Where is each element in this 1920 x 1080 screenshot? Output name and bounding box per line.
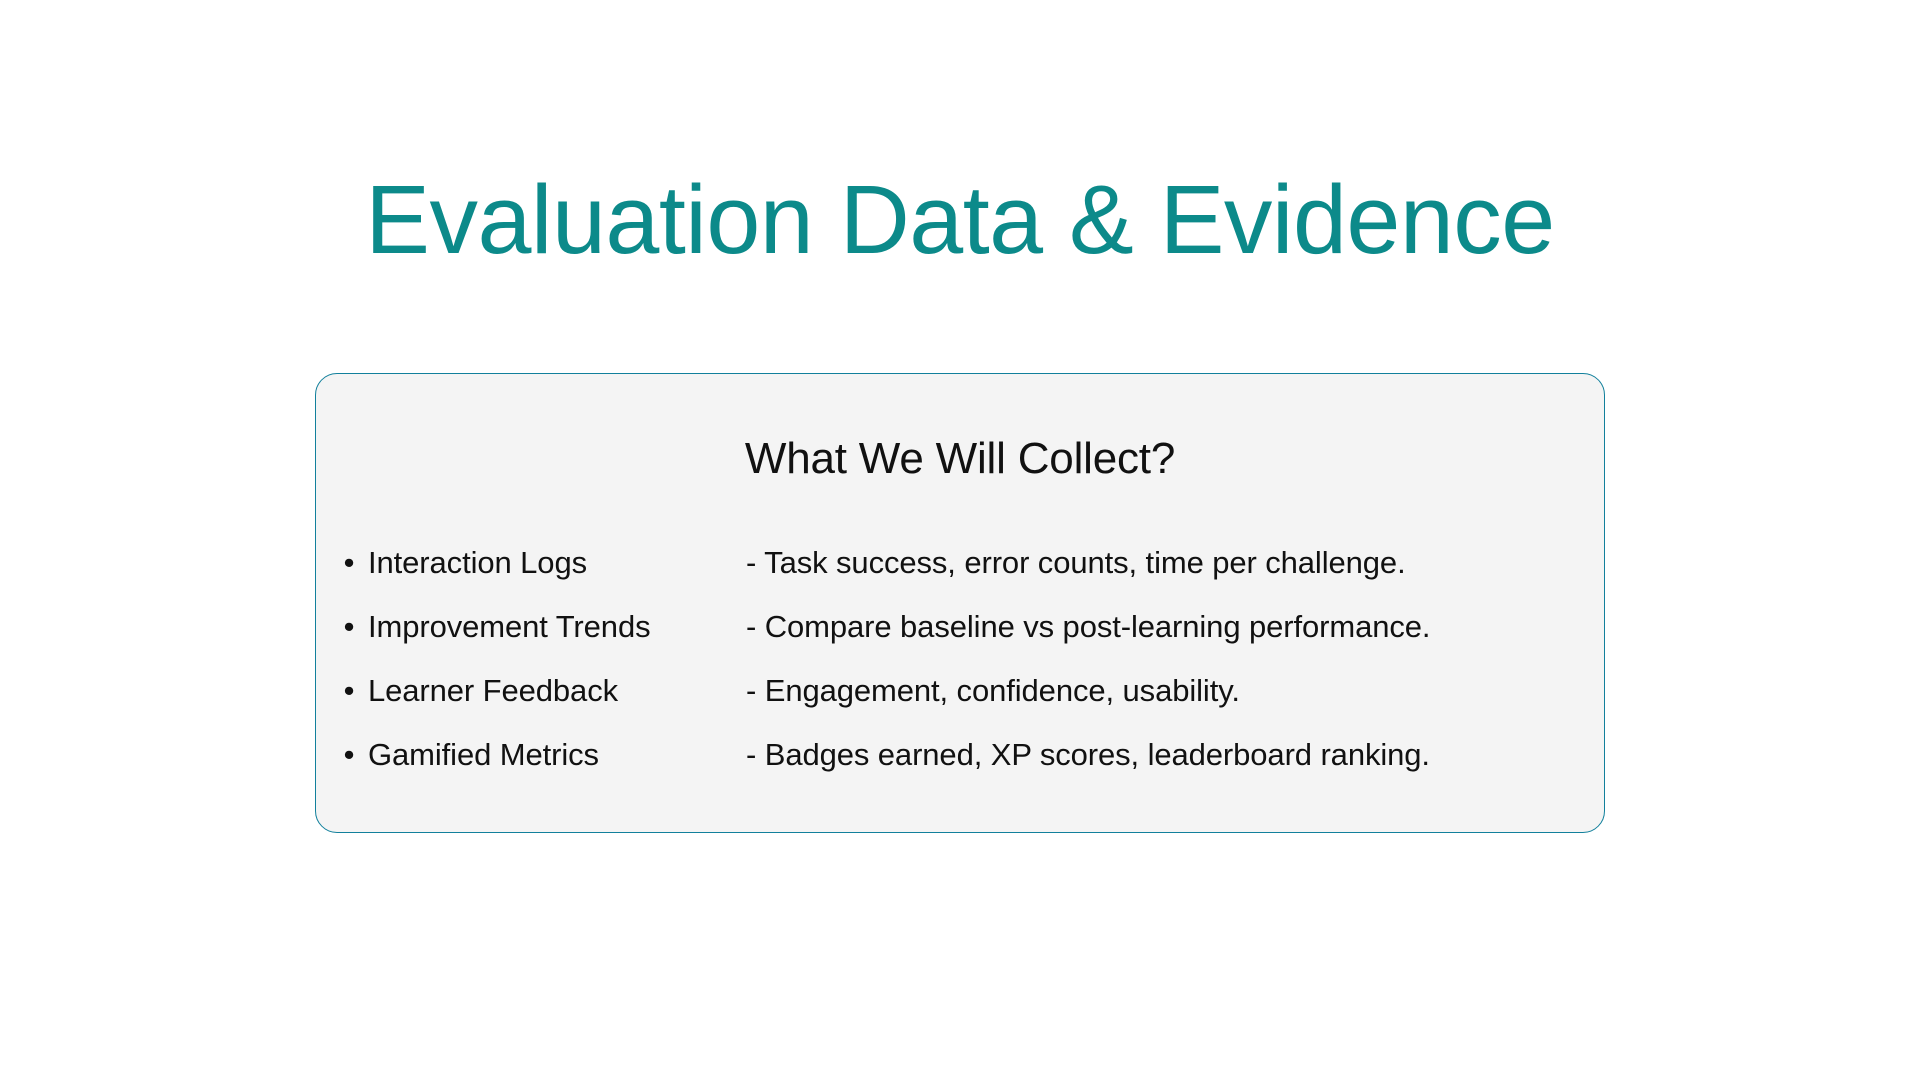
bullet-icon: • <box>340 547 358 578</box>
collect-list: • Interaction Logs - Task success, error… <box>316 530 1604 786</box>
slide-canvas: Evaluation Data & Evidence What We Will … <box>0 0 1920 1080</box>
list-item-description: - Engagement, confidence, usability. <box>746 675 1240 706</box>
list-item-label: Gamified Metrics <box>368 739 599 770</box>
list-item: • Gamified Metrics - Badges earned, XP s… <box>316 722 1604 786</box>
list-item-description: - Badges earned, XP scores, leaderboard … <box>746 739 1430 770</box>
card-heading: What We Will Collect? <box>316 433 1604 486</box>
bullet-icon: • <box>340 611 358 642</box>
list-item-label: Interaction Logs <box>368 547 587 578</box>
bullet-icon: • <box>340 739 358 770</box>
bullet-icon: • <box>340 675 358 706</box>
list-item: • Interaction Logs - Task success, error… <box>316 530 1604 594</box>
list-item-description: - Compare baseline vs post-learning perf… <box>746 611 1430 642</box>
page-title: Evaluation Data & Evidence <box>0 169 1920 272</box>
list-item-description: - Task success, error counts, time per c… <box>746 547 1406 578</box>
what-we-will-collect-card: What We Will Collect? • Interaction Logs… <box>315 373 1605 833</box>
list-item-label: Improvement Trends <box>368 611 650 642</box>
list-item-label: Learner Feedback <box>368 675 618 706</box>
list-item: • Improvement Trends - Compare baseline … <box>316 594 1604 658</box>
list-item: • Learner Feedback - Engagement, confide… <box>316 658 1604 722</box>
